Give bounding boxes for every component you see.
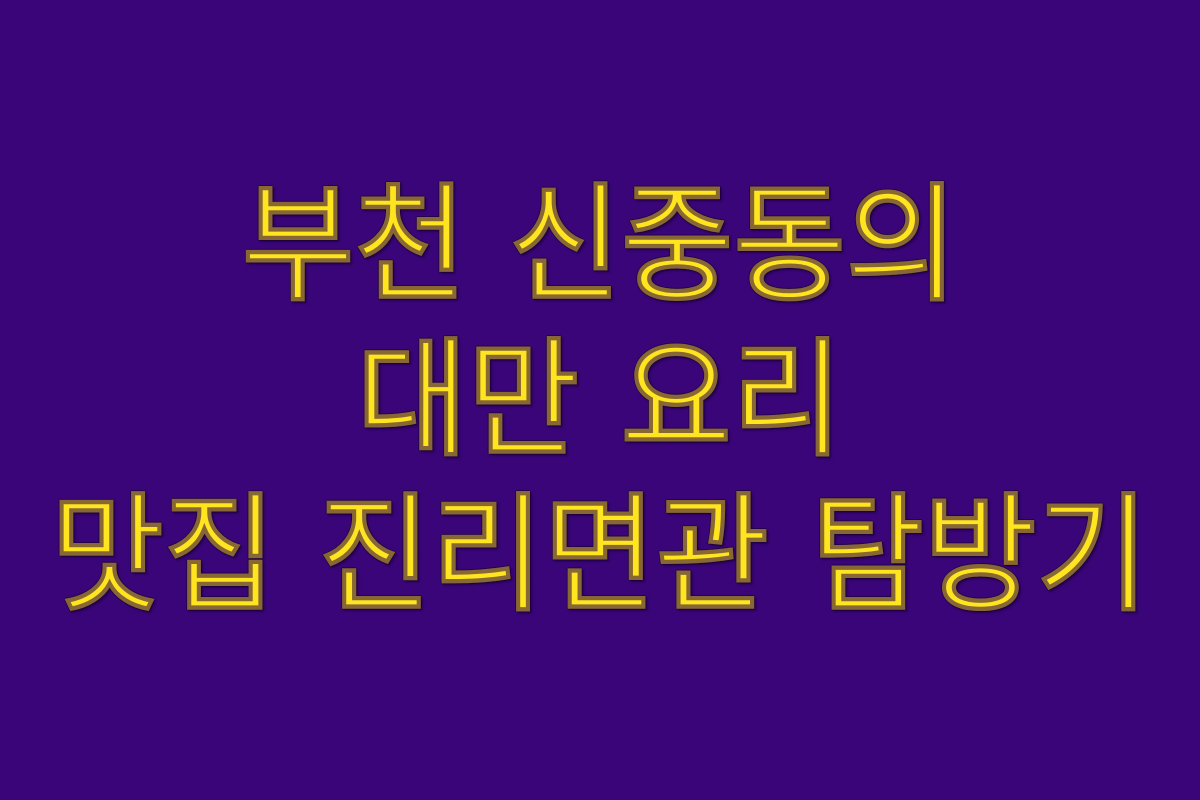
- banner-canvas: 부천 신중동의 대만 요리 맛집 진리면관 탐방기: [0, 0, 1200, 800]
- title-line-2: 대만 요리: [357, 323, 843, 478]
- title-block: 부천 신중동의 대만 요리 맛집 진리면관 탐방기: [0, 168, 1200, 633]
- title-line-3: 맛집 진리면관 탐방기: [51, 478, 1149, 633]
- title-line-1: 부천 신중동의: [242, 168, 958, 323]
